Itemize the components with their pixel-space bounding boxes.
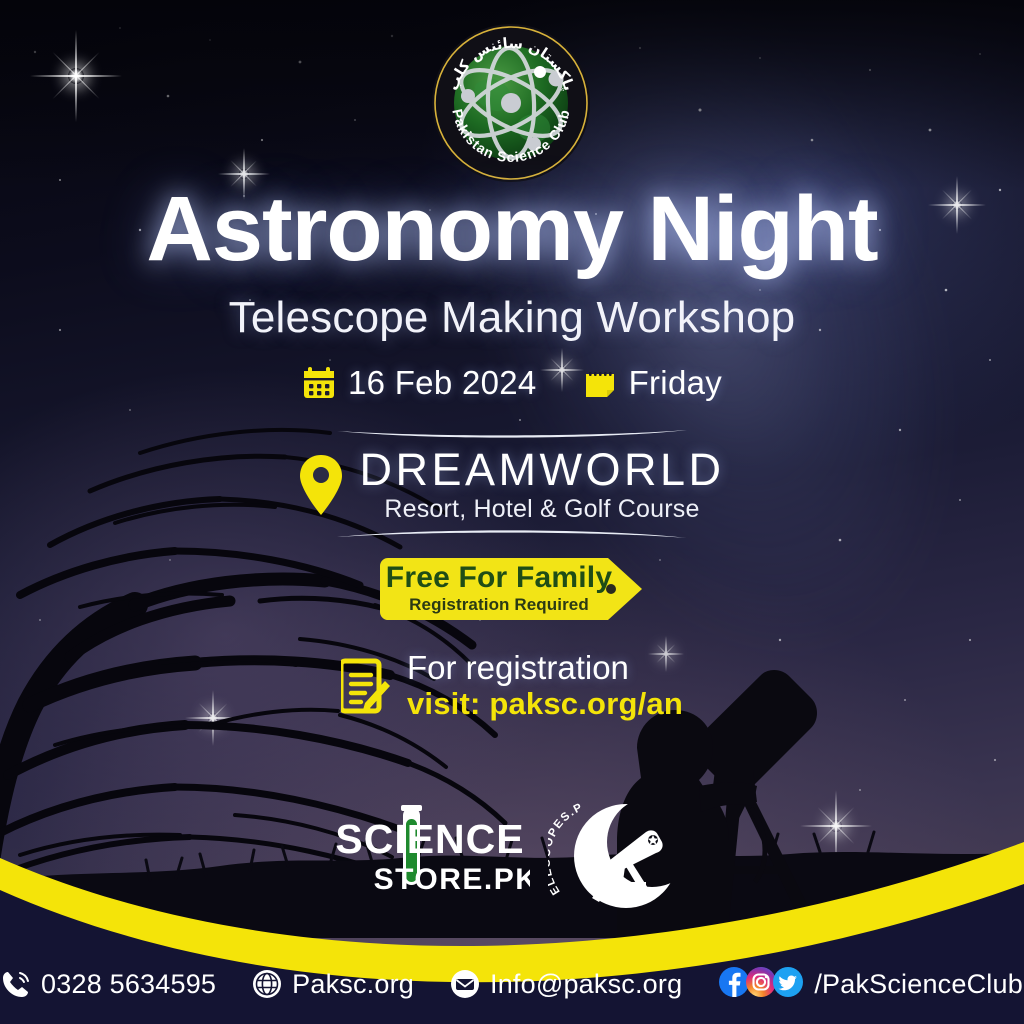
venue-name: DREAMWORLD (359, 446, 724, 493)
registration-line1: For registration (407, 650, 683, 686)
day-calendar-icon (583, 366, 617, 400)
phone-icon (1, 969, 31, 999)
footer-phone[interactable]: 0328 5634595 (1, 969, 216, 1000)
footer-email[interactable]: Info@paksc.org (450, 969, 682, 1000)
footer-contact-row: 0328 5634595 Paksc.org Info@paksc.org (0, 954, 1024, 1014)
event-date: 16 Feb 2024 (302, 364, 537, 402)
registration-block: For registration visit: paksc.org/an (0, 650, 1024, 722)
pakistan-science-club-logo: پاکستان سائنس کلب Pakistan Science Club (430, 22, 592, 184)
venue-subtitle: Resort, Hotel & Golf Course (384, 495, 699, 524)
venue-text: DREAMWORLD Resort, Hotel & Golf Course (359, 446, 724, 524)
event-day-text: Friday (629, 364, 723, 402)
tag-line2: Registration Required (409, 595, 589, 615)
astronomy-night-poster: پاکستان سائنس کلب Pakistan Science Club … (0, 0, 1024, 1024)
footer-phone-text: 0328 5634595 (41, 969, 216, 1000)
free-for-family-tag: Free For Family Registration Required (380, 558, 645, 620)
globe-icon (252, 969, 282, 999)
registration-text: For registration visit: paksc.org/an (407, 650, 683, 722)
price-tag-wrapper: Free For Family Registration Required (0, 558, 1024, 620)
envelope-icon (450, 969, 480, 999)
social-icons[interactable] (718, 966, 804, 1003)
form-edit-icon (341, 657, 393, 715)
tag-line1: Free For Family (386, 563, 612, 594)
venue-inner: DREAMWORLD Resort, Hotel & Golf Course (299, 446, 724, 524)
tag-label: Free For Family Registration Required (380, 558, 645, 620)
footer-website[interactable]: Paksc.org (252, 969, 414, 1000)
divider-line-top (337, 428, 687, 442)
event-day: Friday (583, 364, 723, 402)
registration-url[interactable]: visit: paksc.org/an (407, 686, 683, 722)
venue-block: DREAMWORLD Resort, Hotel & Golf Course (0, 428, 1024, 540)
footer-social-handle: /PakScienceClub (814, 969, 1023, 1000)
footer-website-text: Paksc.org (292, 969, 414, 1000)
twitter-icon[interactable] (772, 966, 804, 1003)
footer-social[interactable]: /PakScienceClub (718, 966, 1023, 1003)
poster-title: Astronomy Night (0, 183, 1024, 275)
event-date-text: 16 Feb 2024 (348, 364, 537, 402)
poster-subtitle: Telescope Making Workshop (0, 296, 1024, 340)
divider-line-bottom (337, 526, 687, 540)
event-date-row: 16 Feb 2024 Friday (0, 364, 1024, 402)
calendar-icon (302, 366, 336, 400)
footer-email-text: Info@paksc.org (490, 969, 682, 1000)
map-pin-icon (299, 454, 343, 516)
